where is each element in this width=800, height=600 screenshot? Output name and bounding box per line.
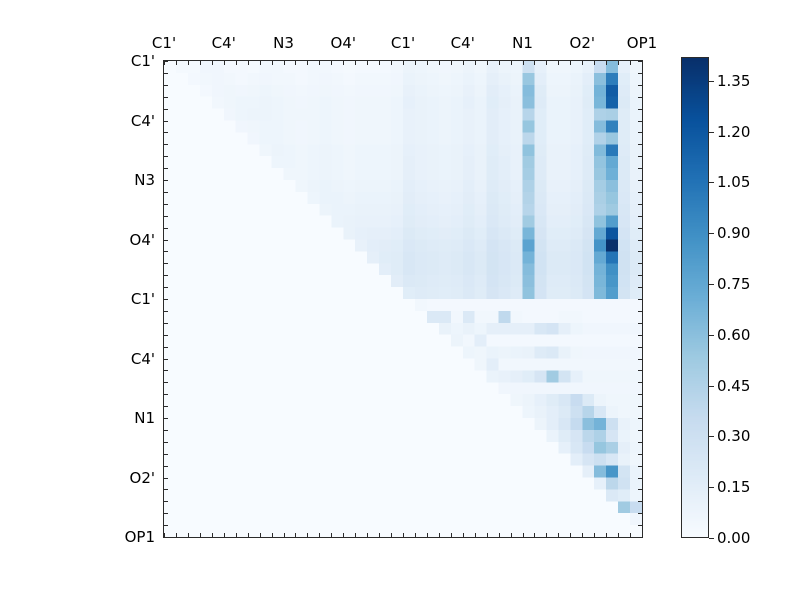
y-tick-label-7: O2' [130,469,155,487]
colorbar-tick-2 [709,436,714,437]
colorbar-tick-7 [709,182,714,183]
y-tick-label-8: OP1 [125,528,155,546]
colorbar-tick-label-2: 0.30 [717,427,750,445]
colorbar-tick-0 [709,538,714,539]
heatmap-plot-area[interactable] [163,60,643,538]
y-tick-label-5: C4' [131,350,155,368]
y-tick-label-1: C4' [131,112,155,130]
x-tick-label-2: N3 [273,34,294,52]
colorbar-tick-3 [709,386,714,387]
colorbar-tick-label-8: 1.20 [717,123,750,141]
y-tick-label-3: O4' [130,231,155,249]
y-tick-label-0: C1' [131,52,155,70]
x-tick-label-4: C1' [391,34,415,52]
x-tick-label-3: O4' [331,34,356,52]
colorbar-tick-label-6: 0.90 [717,224,750,242]
y-tick-label-6: N1 [134,409,155,427]
colorbar-tick-6 [709,233,714,234]
colorbar-tick-label-4: 0.60 [717,326,750,344]
colorbar-tick-9 [709,81,714,82]
x-tick-label-7: O2' [570,34,595,52]
figure-canvas: C1'C4'N3O4'C1'C4'N1O2'OP1 C1'C4'N3O4'C1'… [0,0,800,600]
x-tick-label-6: N1 [512,34,533,52]
colorbar-tick-label-0: 0.00 [717,529,750,547]
colorbar-tick-8 [709,132,714,133]
x-tick-label-5: C4' [451,34,475,52]
colorbar-tick-label-9: 1.35 [717,72,750,90]
colorbar-gradient [681,57,709,538]
colorbar-tick-label-7: 1.05 [717,173,750,191]
colorbar-tick-label-5: 0.75 [717,275,750,293]
y-tick-label-4: C1' [131,290,155,308]
colorbar: 0.000.150.300.450.600.750.901.051.201.35 [681,57,709,538]
y-tick-label-2: N3 [134,171,155,189]
colorbar-tick-1 [709,487,714,488]
x-tick-label-1: C4' [212,34,236,52]
colorbar-tick-4 [709,335,714,336]
heatmap-image [164,61,642,537]
colorbar-tick-5 [709,284,714,285]
colorbar-tick-label-3: 0.45 [717,377,750,395]
x-tick-label-0: C1' [152,34,176,52]
colorbar-tick-label-1: 0.15 [717,478,750,496]
x-tick-label-8: OP1 [627,34,657,52]
